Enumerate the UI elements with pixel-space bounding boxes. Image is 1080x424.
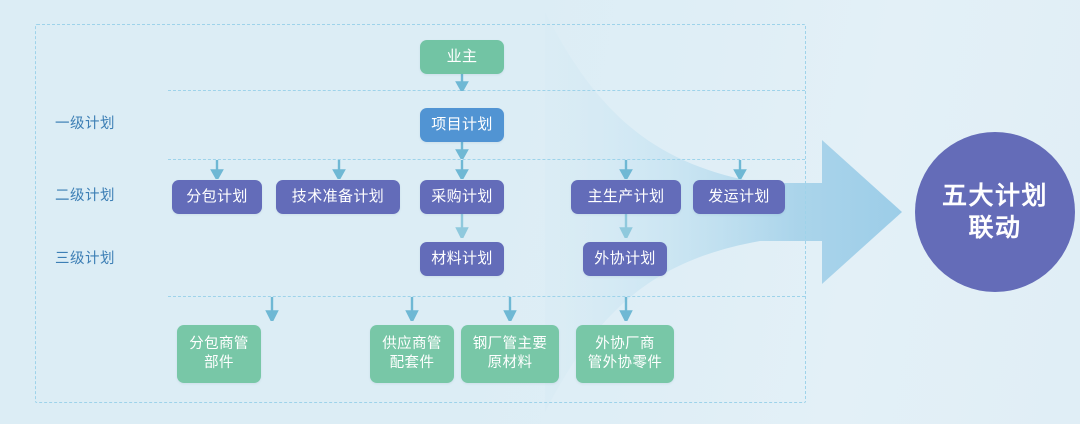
node-level2-main-production-plan[interactable]: 主生产计划 [571,180,681,214]
node-level2-subcontract-plan[interactable]: 分包计划 [172,180,262,214]
arrow-to-level3-2 [619,213,633,238]
supplier-2-line1: 供应商管 [382,336,442,352]
node-supplier-subcontractor[interactable]: 分包商管 部件 [177,325,261,383]
summary-line-1: 五大计划 [942,180,1048,212]
level-label-1: 一级计划 [55,117,115,132]
level-label-2: 二级计划 [55,189,115,204]
node-level2-procurement-plan[interactable]: 采购计划 [420,180,504,214]
arrow-to-supplier-3 [503,297,517,321]
supplier-2-line2: 配套件 [390,355,435,371]
diagram-canvas: 一级计划 二级计划 三级计划 业主 项目计划 [0,0,1080,424]
level-label-3: 三级计划 [55,252,115,267]
supplier-4-line2: 管外协零件 [588,355,663,371]
node-level3-outsourcing-plan[interactable]: 外协计划 [583,242,667,276]
separator-suppliers [168,296,805,297]
separator-level2 [168,159,805,160]
node-supplier-outsourcing-factory[interactable]: 外协厂商 管外协零件 [576,325,674,383]
arrow-to-supplier-4 [619,297,633,321]
node-owner[interactable]: 业主 [420,40,504,74]
arrow-to-supplier-2 [405,297,419,321]
summary-line-2: 联动 [968,212,1021,244]
arrow-to-level2-4 [619,160,633,179]
arrow-to-level3-1 [455,213,469,238]
supplier-3-line2: 原材料 [488,355,533,371]
node-level3-material-plan[interactable]: 材料计划 [420,242,504,276]
node-level2-tech-prep-plan[interactable]: 技术准备计划 [276,180,400,214]
arrow-project-down [455,141,469,159]
supplier-1-line2: 部件 [204,355,234,371]
arrow-to-supplier-1 [265,297,279,321]
node-level2-shipping-plan[interactable]: 发运计划 [693,180,785,214]
node-project-plan[interactable]: 项目计划 [420,108,504,142]
separator-level1 [168,90,805,91]
supplier-1-line1: 分包商管 [189,336,249,352]
arrow-to-level2-5 [733,160,747,179]
node-supplier-vendor[interactable]: 供应商管 配套件 [370,325,454,383]
arrow-to-level2-3 [455,160,469,179]
supplier-3-line1: 钢厂管主要 [473,336,548,352]
arrow-to-level2-2 [332,160,346,179]
node-supplier-steel-mill[interactable]: 钢厂管主要 原材料 [461,325,559,383]
arrow-owner-to-project [455,73,469,91]
arrow-to-level2-1 [210,160,224,179]
summary-circle[interactable]: 五大计划 联动 [915,132,1075,292]
supplier-4-line1: 外协厂商 [595,336,655,352]
